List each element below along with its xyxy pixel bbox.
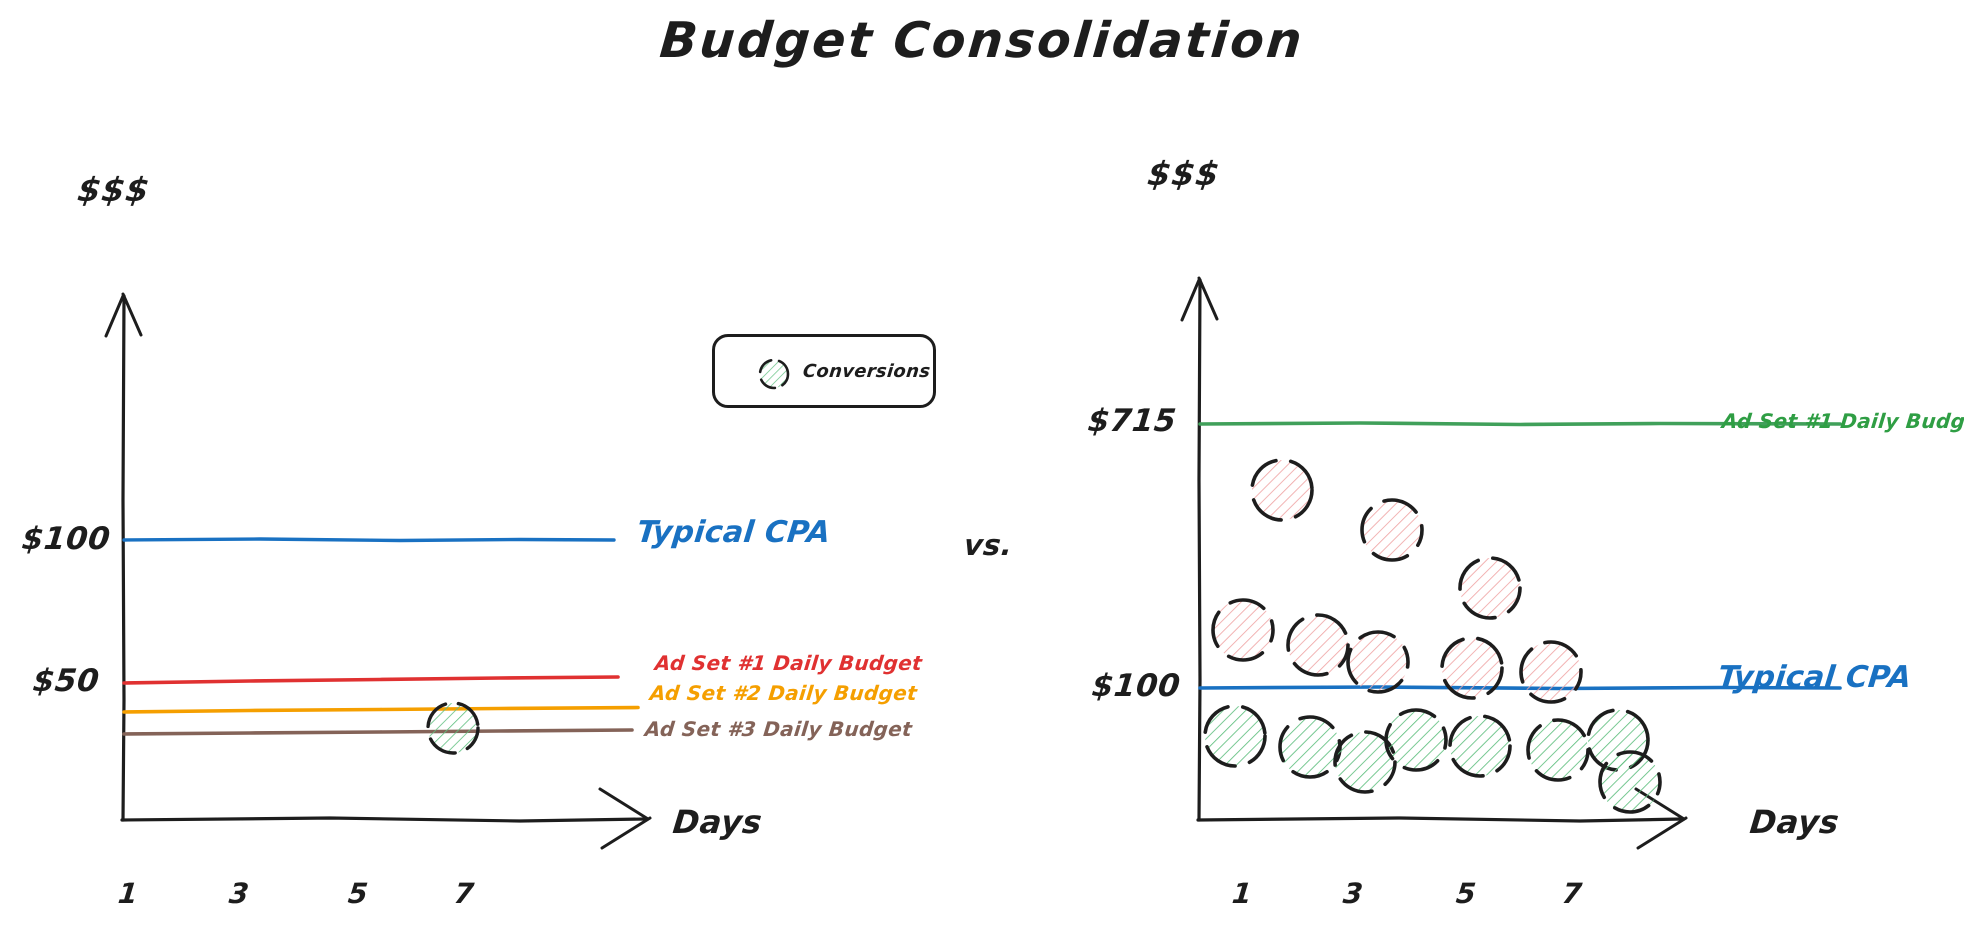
conversion-bubble [1386,710,1446,770]
conversion-bubble [1521,642,1581,702]
right-x-axis-label: Days [1748,803,1841,841]
right-conversion-bubbles-above-cpa [1213,460,1581,702]
conversion-bubble [1528,720,1588,780]
left-xtick-5: 5 [336,877,379,910]
left-x-axis [122,789,650,848]
right-conversion-bubbles-below-cpa [1205,706,1660,812]
right-xtick-1: 1 [1220,877,1263,910]
left-typical-cpa-label: Typical CPA [635,515,832,550]
left-y-axis [106,294,141,820]
conversion-bubble [1362,500,1422,560]
legend-item-label: Conversions [802,361,932,382]
left-ad-set-1-line [124,677,618,683]
left-ad-set-3-line [124,730,632,734]
left-typical-cpa-line [124,539,614,541]
left-ad-set-1-label: Ad Set #1 Daily Budget [654,651,924,675]
diagram-canvas: Budget Consolidation $$$ [0,0,1964,939]
conversion-bubble [1348,632,1408,692]
conversion-bubble [1205,706,1265,766]
right-typical-cpa-label: Typical CPA [1716,660,1913,695]
conversions-legend: Conversions [712,334,936,408]
conversion-bubble [1450,716,1510,776]
left-ytick-100: $100 [20,521,112,557]
conversion-bubble [1252,460,1312,520]
left-ytick-50: $50 [31,663,101,699]
conversion-bubble [1280,717,1340,777]
right-xtick-5: 5 [1444,877,1487,910]
conversion-bubble [1600,752,1660,812]
right-ytick-100: $100 [1090,668,1182,704]
left-ad-set-2-label: Ad Set #2 Daily Budget [649,681,919,705]
left-ad-set-2-line [124,708,638,713]
left-xtick-3: 3 [217,877,260,910]
conversion-bubble [1213,600,1273,660]
conversion-bubble [1460,558,1520,618]
right-xtick-7: 7 [1550,877,1593,910]
right-xtick-3: 3 [1331,877,1374,910]
right-ad-set-1-label: Ad Set #1 Daily Budget [1721,409,1964,433]
hatched-circle-icon [757,357,791,391]
conversion-bubble [1288,615,1348,675]
left-xtick-7: 7 [442,877,485,910]
left-conversion-bubble [428,703,478,753]
left-x-axis-label: Days [671,803,764,841]
left-xtick-1: 1 [106,877,149,910]
left-ad-set-3-label: Ad Set #3 Daily Budget [644,717,914,741]
conversion-bubble [1442,638,1502,698]
right-ytick-715: $715 [1086,403,1178,439]
